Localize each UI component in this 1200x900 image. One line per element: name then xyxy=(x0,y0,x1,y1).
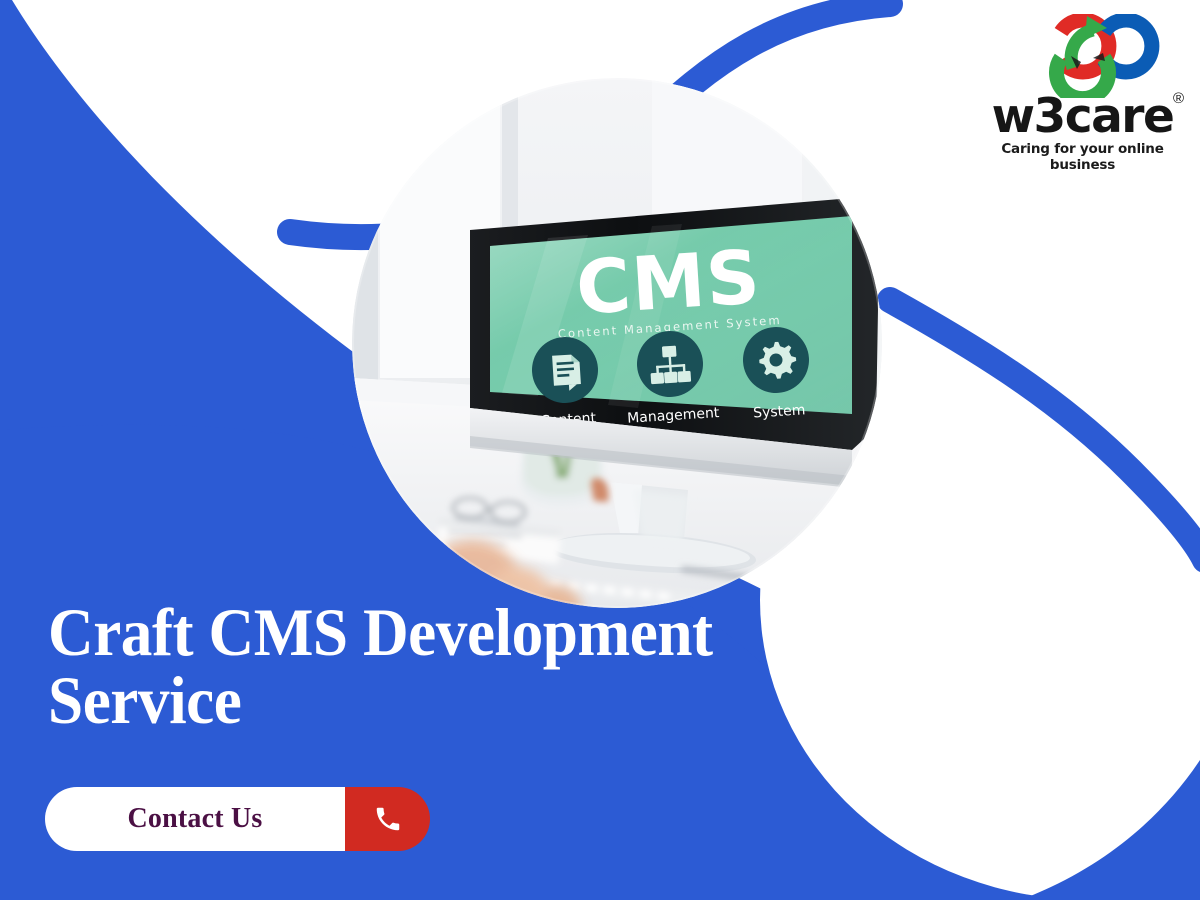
promo-banner: CMS Content Management System xyxy=(0,0,1200,900)
svg-text:System: System xyxy=(753,402,806,421)
logo-wordmark-wrapper: w3care ® xyxy=(975,94,1190,140)
registered-trademark-icon: ® xyxy=(1173,90,1184,107)
headline-line-1: Craft CMS Development xyxy=(48,594,713,670)
logo-wordmark: w3care xyxy=(992,94,1174,140)
w3care-logo[interactable]: w3care ® Caring for your online business xyxy=(975,14,1190,164)
headline-line-2: Service xyxy=(48,662,241,738)
contact-us-button[interactable]: Contact Us xyxy=(45,787,430,851)
w3care-logo-mark xyxy=(975,14,1190,98)
page-title: Craft CMS Development Service xyxy=(48,598,783,734)
logo-tagline: Caring for your online business xyxy=(975,141,1190,173)
phone-handset-icon xyxy=(373,804,403,834)
contact-us-label[interactable]: Contact Us xyxy=(45,787,345,851)
desk-with-imac-photo: CMS Content Management System xyxy=(352,78,882,608)
phone-call-button[interactable] xyxy=(345,787,430,851)
